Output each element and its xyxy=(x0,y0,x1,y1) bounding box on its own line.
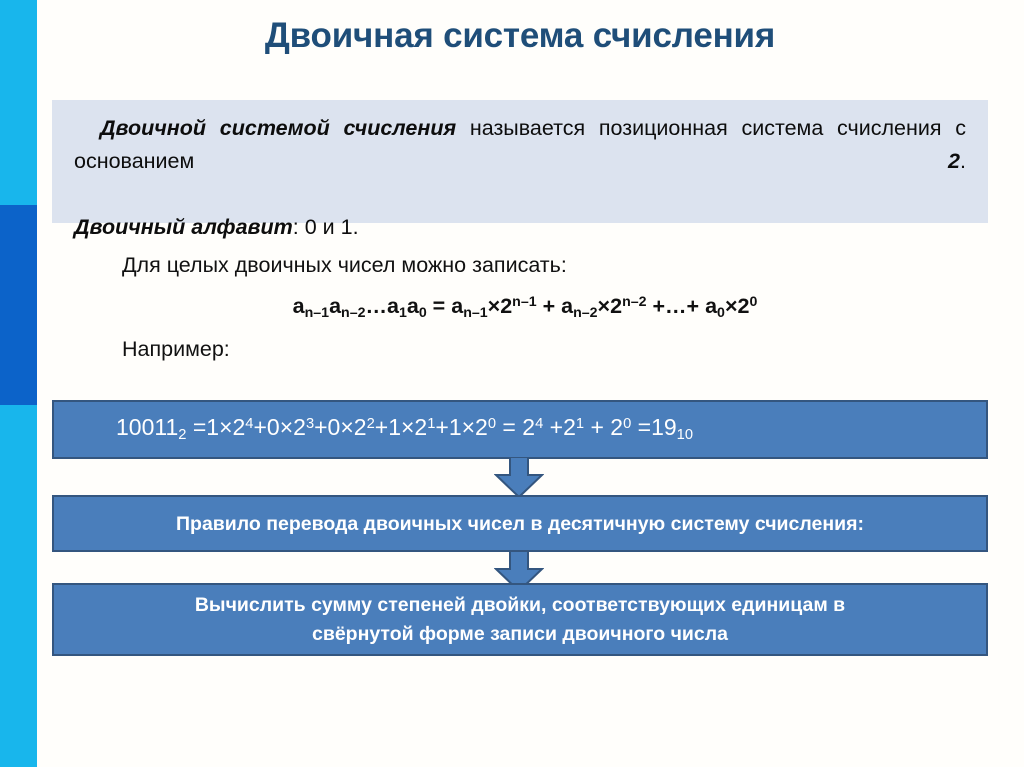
band1-part-1: +0×2 xyxy=(253,414,305,440)
rule-title-text: Правило перевода двоичных чисел в десяти… xyxy=(176,511,864,537)
page-title: Двоичная система счисления xyxy=(52,14,988,58)
formula-t1: a xyxy=(451,294,463,318)
formula-t2: a xyxy=(561,294,573,318)
band1-sup-2: 3 xyxy=(306,416,314,432)
rule-body-line-2: свёрнутой форме записи двоичного числа xyxy=(312,623,728,645)
band1-part-7: + 2 xyxy=(584,414,623,440)
formula-a2-sub: n–2 xyxy=(341,305,365,321)
left-rail-gap xyxy=(37,0,52,767)
left-rail xyxy=(0,0,37,767)
left-rail-accent xyxy=(0,205,37,405)
band1-part-3: +1×2 xyxy=(375,414,427,440)
formula-t2-sub: n–2 xyxy=(573,305,597,321)
band1-sup-3: 2 xyxy=(367,416,375,432)
formula-ellipsis: … xyxy=(365,294,387,318)
band1-part-5: = 2 xyxy=(496,414,535,440)
band1-sup-7: 1 xyxy=(576,416,584,432)
example-equation-text: 100112 =1×24+0×23+0×22+1×21+1×20 = 24 +2… xyxy=(116,409,693,450)
formula-a4: a xyxy=(407,294,419,318)
formula-t2-sup: n–2 xyxy=(622,294,646,310)
band1-number: 10011 xyxy=(116,414,178,440)
formula-a4-sub: 0 xyxy=(419,305,427,321)
formula-t1-mul: ×2 xyxy=(488,294,513,318)
definition-term-binary-system: Двоичной системой счисления xyxy=(100,116,456,140)
formula-a3: a xyxy=(387,294,399,318)
definition-term-binary-alphabet: Двоичный алфавит xyxy=(74,215,293,239)
formula-a2: a xyxy=(329,294,341,318)
formula-a1: a xyxy=(293,294,305,318)
body-block: Для целых двоичных чисел можно записать:… xyxy=(52,248,988,367)
formula-t3: a xyxy=(705,294,717,318)
slide-canvas: Двоичная система счисления Двоичной сист… xyxy=(0,0,1024,767)
band1-eq: =1×2 xyxy=(186,414,245,440)
definition-text-2: : 0 и 1. xyxy=(293,215,359,239)
formula-t2-mul: ×2 xyxy=(598,294,623,318)
formula-a3-sub: 1 xyxy=(399,305,407,321)
formula-plus-1: + xyxy=(537,294,562,318)
formula-plus-2: +…+ xyxy=(647,294,706,318)
body-example-label: Например: xyxy=(52,332,988,367)
formula-t1-sup: n–1 xyxy=(512,294,536,310)
band1-part-4: +1×2 xyxy=(435,414,487,440)
formula-t3-sub: 0 xyxy=(717,305,725,321)
example-equation-band: 100112 =1×24+0×23+0×22+1×21+1×20 = 24 +2… xyxy=(52,400,988,459)
band1-part-2: +0×2 xyxy=(314,414,366,440)
definition-paragraph-1: Двоичной системой счисления называется п… xyxy=(74,112,966,211)
band1-sup-5: 0 xyxy=(488,416,496,432)
definition-paragraph-2: Двоичный алфавит: 0 и 1. xyxy=(74,211,966,244)
formula-t3-sup: 0 xyxy=(749,294,757,310)
rule-body-line-1: Вычислить сумму степеней двойки, соответ… xyxy=(195,594,845,616)
definition-base-value: 2 xyxy=(948,149,960,173)
formula-a1-sub: n–1 xyxy=(305,305,329,321)
formula-equals: = xyxy=(427,294,452,318)
rule-title-band: Правило перевода двоичных чисел в десяти… xyxy=(52,495,988,552)
band1-sub-9: 10 xyxy=(677,427,693,443)
rule-body-text: Вычислить сумму степеней двойки, соответ… xyxy=(195,591,845,649)
definition-panel: Двоичной системой счисления называется п… xyxy=(52,100,988,223)
band1-part-8: =19 xyxy=(631,414,676,440)
body-intro-text: Для целых двоичных чисел можно записать: xyxy=(52,248,988,283)
down-arrow-icon-1 xyxy=(494,457,544,499)
definition-text-1-end: . xyxy=(960,149,966,173)
rule-body-band: Вычислить сумму степеней двойки, соответ… xyxy=(52,583,988,656)
formula-t3-mul: ×2 xyxy=(725,294,750,318)
formula-t1-sub: n–1 xyxy=(463,305,487,321)
general-formula: an–1an–2…a1a0 = an–1×2n–1 + an–2×2n–2 +…… xyxy=(52,283,988,332)
band1-part-6: +2 xyxy=(543,414,576,440)
